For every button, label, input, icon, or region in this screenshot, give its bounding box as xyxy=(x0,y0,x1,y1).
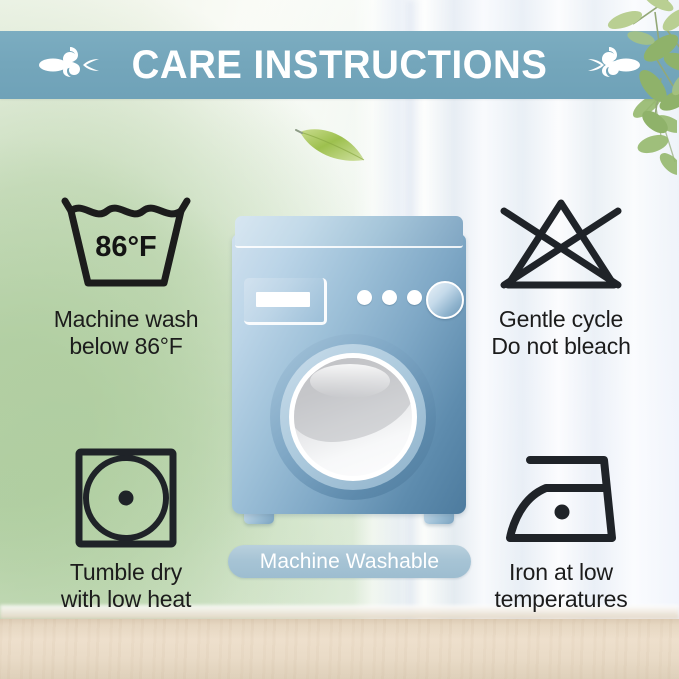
caption-iron-low: Iron at low temperatures xyxy=(494,559,627,613)
machine-button-1 xyxy=(357,290,372,305)
drawer-handle xyxy=(256,292,310,307)
iron-icon xyxy=(486,443,636,553)
foliage-top-right-icon xyxy=(555,0,679,140)
care-symbol-machine-wash: 86°F Machine wash below 86°F xyxy=(22,190,230,360)
machine-washable-label: Machine Washable xyxy=(260,551,439,572)
caption-machine-wash: Machine wash below 86°F xyxy=(54,306,199,360)
wash-tub-icon: 86°F xyxy=(51,190,201,300)
glass-highlight xyxy=(310,364,390,398)
caption-tumble-dry: Tumble dry with low heat xyxy=(61,559,191,613)
crossed-triangle-icon xyxy=(486,190,636,300)
care-symbol-iron-low: Iron at low temperatures xyxy=(455,443,667,613)
machine-washable-badge: Machine Washable xyxy=(228,545,471,578)
machine-top-panel xyxy=(235,216,463,248)
fleur-de-lis-icon-left xyxy=(39,42,101,88)
machine-door-inner-ring xyxy=(280,344,426,490)
caption-no-bleach: Gentle cycle Do not bleach xyxy=(491,306,630,360)
caption-line-2: Do not bleach xyxy=(491,333,630,360)
machine-button-2 xyxy=(382,290,397,305)
machine-door-outer-ring xyxy=(270,334,436,500)
caption-line-1: Gentle cycle xyxy=(491,306,630,333)
care-instructions-infographic: CARE INSTRUCTIONS 86°F Machine wash b xyxy=(0,0,679,679)
wash-temperature-value: 86°F xyxy=(95,231,157,263)
care-symbol-no-bleach: Gentle cycle Do not bleach xyxy=(455,190,667,360)
page-title: CARE INSTRUCTIONS xyxy=(132,45,548,85)
caption-line-2: below 86°F xyxy=(54,333,199,360)
machine-door-bezel xyxy=(289,353,417,481)
caption-line-2: with low heat xyxy=(61,586,191,613)
washing-machine-illustration xyxy=(228,208,470,530)
caption-line-1: Tumble dry xyxy=(61,559,191,586)
machine-buttons xyxy=(357,290,422,305)
floating-leaf-icon xyxy=(294,118,370,170)
wooden-table-surface xyxy=(0,619,679,679)
care-symbol-tumble-dry: Tumble dry with low heat xyxy=(22,443,230,613)
caption-line-1: Machine wash xyxy=(54,306,199,333)
machine-body xyxy=(232,234,466,514)
machine-door-glass xyxy=(294,358,412,476)
machine-button-3 xyxy=(407,290,422,305)
tumble-dry-square-icon xyxy=(51,443,201,553)
detergent-drawer xyxy=(244,278,327,325)
caption-line-1: Iron at low xyxy=(494,559,627,586)
caption-line-2: temperatures xyxy=(494,586,627,613)
